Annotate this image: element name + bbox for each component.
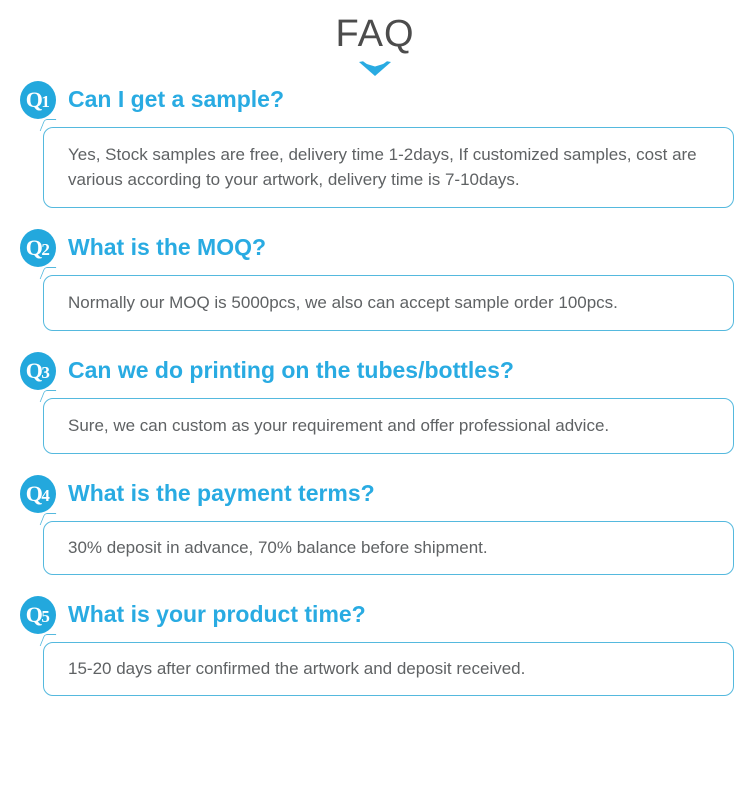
faq-answer-text: 15-20 days after confirmed the artwork a… xyxy=(68,656,711,681)
faq-question-row[interactable]: Q5 What is your product time? xyxy=(20,593,730,635)
faq-item: Q3 Can we do printing on the tubes/bottl… xyxy=(20,349,730,454)
badge-letter: Q xyxy=(26,483,43,505)
faq-question-text: What is the MOQ? xyxy=(68,234,266,260)
faq-question-text: What is your product time? xyxy=(68,601,366,627)
faq-question-row[interactable]: Q3 Can we do printing on the tubes/bottl… xyxy=(20,349,730,391)
question-badge: Q4 xyxy=(20,475,56,513)
badge-letter: Q xyxy=(26,360,43,382)
faq-header: FAQ xyxy=(0,0,750,78)
badge-letter: Q xyxy=(26,237,43,259)
faq-item: Q4 What is the payment terms? 30% deposi… xyxy=(20,472,730,575)
faq-answer-box: 15-20 days after confirmed the artwork a… xyxy=(43,642,734,696)
faq-question-text: What is the payment terms? xyxy=(68,480,375,506)
faq-item: Q2 What is the MOQ? Normally our MOQ is … xyxy=(20,226,730,331)
faq-question-row[interactable]: Q2 What is the MOQ? xyxy=(20,226,730,268)
faq-question-row[interactable]: Q4 What is the payment terms? xyxy=(20,472,730,514)
faq-answer-box: 30% deposit in advance, 70% balance befo… xyxy=(43,521,734,575)
faq-list: Q1 Can I get a sample? Yes, Stock sample… xyxy=(0,78,750,696)
question-badge: Q3 xyxy=(20,352,56,390)
badge-number: 1 xyxy=(41,93,49,110)
faq-answer-text: Normally our MOQ is 5000pcs, we also can… xyxy=(68,290,711,315)
question-badge: Q5 xyxy=(20,596,56,634)
question-badge: Q2 xyxy=(20,229,56,267)
faq-answer-text: 30% deposit in advance, 70% balance befo… xyxy=(68,535,711,560)
badge-number: 3 xyxy=(41,364,49,381)
question-badge: Q1 xyxy=(20,81,56,119)
faq-answer-text: Sure, we can custom as your requirement … xyxy=(68,413,711,438)
page-title: FAQ xyxy=(0,14,750,54)
faq-answer-text: Yes, Stock samples are free, delivery ti… xyxy=(68,142,711,192)
faq-question-text: Can we do printing on the tubes/bottles? xyxy=(68,357,514,383)
badge-number: 5 xyxy=(41,608,49,625)
badge-number: 4 xyxy=(41,487,49,504)
faq-answer-box: Sure, we can custom as your requirement … xyxy=(43,398,734,454)
faq-question-row[interactable]: Q1 Can I get a sample? xyxy=(20,78,730,120)
faq-answer-box: Yes, Stock samples are free, delivery ti… xyxy=(43,127,734,208)
chevron-down-icon xyxy=(357,60,393,78)
badge-letter: Q xyxy=(26,89,43,111)
faq-item: Q5 What is your product time? 15-20 days… xyxy=(20,593,730,696)
badge-letter: Q xyxy=(26,604,43,626)
faq-page: FAQ Q1 Can I get a sample? Yes, Stock sa… xyxy=(0,0,750,809)
faq-answer-box: Normally our MOQ is 5000pcs, we also can… xyxy=(43,275,734,331)
faq-item: Q1 Can I get a sample? Yes, Stock sample… xyxy=(20,78,730,208)
badge-number: 2 xyxy=(41,241,49,258)
faq-question-text: Can I get a sample? xyxy=(68,86,284,112)
